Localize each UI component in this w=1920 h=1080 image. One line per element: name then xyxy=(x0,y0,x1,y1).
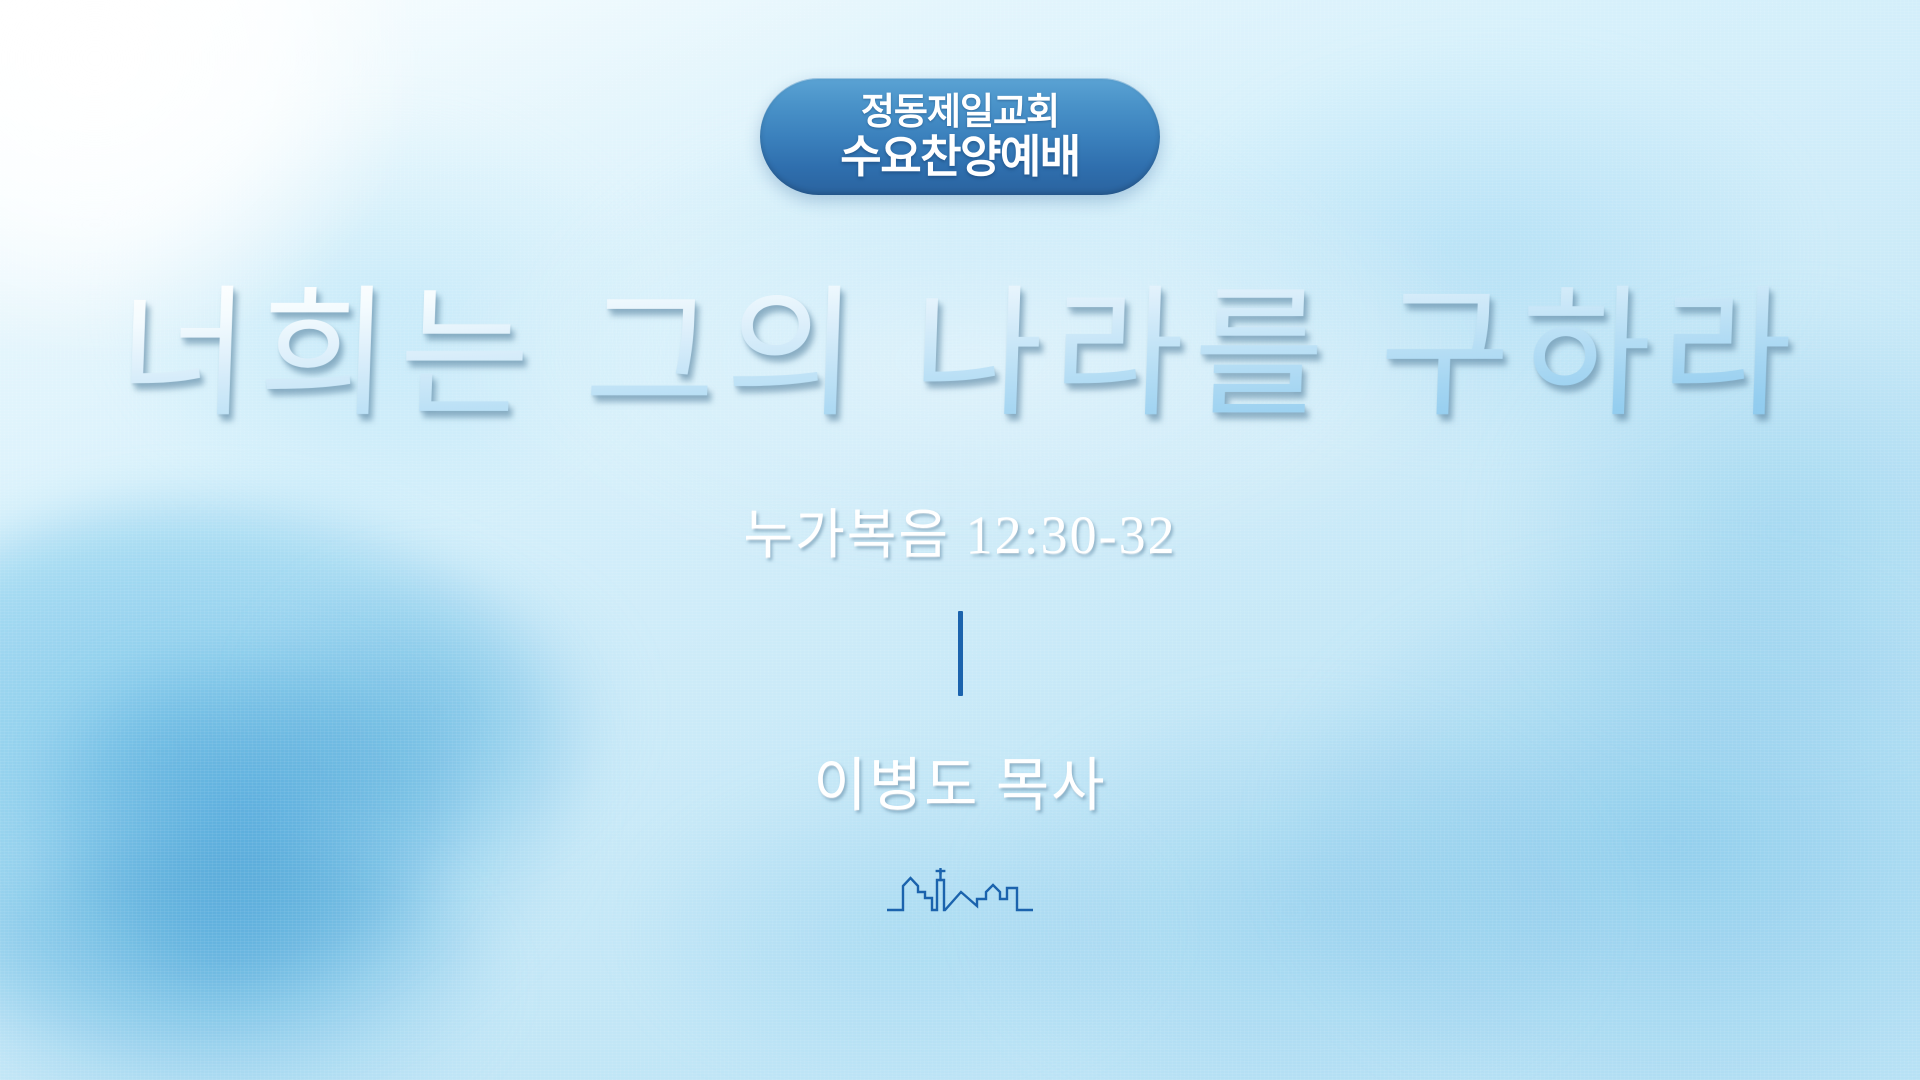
scripture-reference: 누가복음 12:30-32 xyxy=(743,490,1176,569)
vertical-divider xyxy=(958,611,963,696)
church-name-label: 정동제일교회 xyxy=(861,93,1059,130)
sermon-title: 너희는 그의 나라를 구하라 xyxy=(116,281,1805,430)
title-slide: 정동제일교회 수요찬양예배 너희는 그의 나라를 구하라 누가복음 12:30-… xyxy=(0,0,1920,1080)
slide-content: 정동제일교회 수요찬양예배 너희는 그의 나라를 구하라 누가복음 12:30-… xyxy=(0,0,1920,1080)
service-name-label: 수요찬양예배 xyxy=(840,134,1079,179)
speaker-name: 이병도 목사 xyxy=(813,738,1106,822)
headline-container: 너희는 그의 나라를 구하라 xyxy=(0,281,1920,430)
church-skyline-logo-icon xyxy=(887,868,1033,920)
service-badge: 정동제일교회 수요찬양예배 xyxy=(760,78,1160,195)
